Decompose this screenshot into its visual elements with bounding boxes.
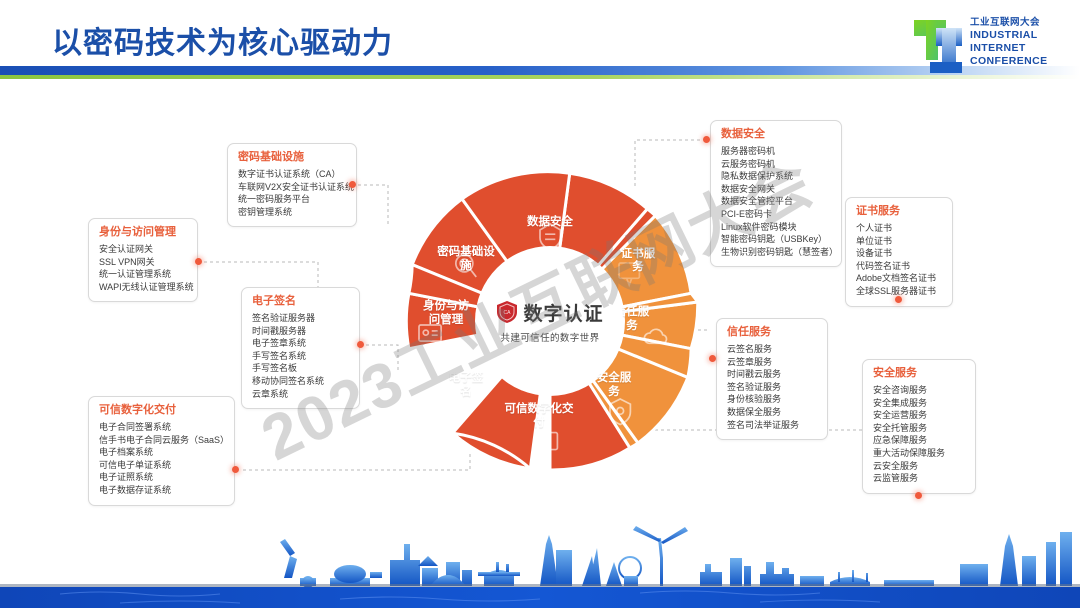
connector-dot	[895, 296, 902, 303]
info-box-item: 电子数据存证系统	[99, 484, 224, 497]
info-box-title: 身份与访问管理	[99, 226, 187, 239]
info-box-item: 服务器密码机	[721, 145, 831, 158]
info-box-item: 云签章服务	[727, 356, 817, 369]
info-box-item: 车联网V2X安全证书认证系统	[238, 181, 346, 194]
info-box-item: 数据安全管控平台	[721, 195, 831, 208]
info-box-item: 密钥管理系统	[238, 206, 346, 219]
info-box-item: 电子合同签署系统	[99, 421, 224, 434]
info-box-identity-access-management[interactable]: 身份与访问管理 安全认证网关 SSL VPN网关 统一认证管理系统 WAPI无线…	[88, 218, 198, 302]
wheel-center-brand: CA 数字认证 共建可信任的数字世界	[477, 248, 623, 394]
info-box-item: 隐私数据保护系统	[721, 170, 831, 183]
wheel-label-electronic-signature[interactable]: 电子签名	[446, 371, 486, 399]
info-box-item: 数据保全服务	[727, 406, 817, 419]
info-box-item: 单位证书	[856, 235, 942, 248]
wheel-label-security-service[interactable]: 安全服务	[594, 371, 634, 399]
info-box-item: 云服务密码机	[721, 158, 831, 171]
wheel-label-certificate-service[interactable]: 证书服务	[618, 248, 658, 274]
info-box-title: 密码基础设施	[238, 151, 346, 164]
info-box-item: 签名司法举证服务	[727, 419, 817, 432]
connector-dot	[232, 466, 239, 473]
info-box-item: 应急保障服务	[873, 434, 965, 447]
info-box-item: 手写签名系统	[252, 350, 349, 363]
info-box-item: 时间戳服务器	[252, 325, 349, 338]
skyline-silhouette	[280, 526, 1072, 587]
info-box-item: 数据安全网关	[721, 183, 831, 196]
info-box-item: 安全运营服务	[873, 409, 965, 422]
info-box-item: 代码签名证书	[856, 260, 942, 273]
info-box-item: 数字证书认证系统（CA）	[238, 168, 346, 181]
connector-dot	[349, 181, 356, 188]
info-box-electronic-signature[interactable]: 电子签名 签名验证服务器 时间戳服务器 电子签章系统 手写签名系统 手写签名板 …	[241, 287, 360, 409]
info-box-item: PCI-E密码卡	[721, 208, 831, 221]
info-box-title: 数据安全	[721, 128, 831, 141]
sea-band	[0, 587, 1080, 608]
info-box-item: 签名验证服务	[727, 381, 817, 394]
info-box-item: Linux软件密码模块	[721, 221, 831, 234]
connector-dot	[703, 136, 710, 143]
info-box-data-security[interactable]: 数据安全 服务器密码机 云服务密码机 隐私数据保护系统 数据安全网关 数据安全管…	[710, 120, 842, 267]
info-box-item: 云监管服务	[873, 472, 965, 485]
info-box-item: 身份核验服务	[727, 393, 817, 406]
city-skyline-decoration	[0, 498, 1080, 608]
info-box-item: 安全集成服务	[873, 397, 965, 410]
info-box-item: 电子证照系统	[99, 471, 224, 484]
info-box-trusted-digital-delivery[interactable]: 可信数字化交付 电子合同签署系统 信手书电子合同云服务（SaaS） 电子档案系统…	[88, 396, 235, 506]
info-box-item: 安全咨询服务	[873, 384, 965, 397]
brand-tagline: 共建可信任的数字世界	[500, 330, 599, 344]
connector-dot	[195, 258, 202, 265]
info-box-item: 个人证书	[856, 222, 942, 235]
info-box-item: 云签名服务	[727, 343, 817, 356]
info-box-item: Adobe文档签名证书	[856, 272, 942, 285]
info-box-item: 重大活动保障服务	[873, 447, 965, 460]
info-box-item: WAPI无线认证管理系统	[99, 281, 187, 294]
info-box-title: 信任服务	[727, 326, 817, 339]
info-box-trust-service[interactable]: 信任服务 云签名服务 云签章服务 时间戳云服务 签名验证服务 身份核验服务 数据…	[716, 318, 828, 440]
signature-icon	[445, 402, 464, 419]
wheel-label-crypto-infrastructure[interactable]: 密码基础设施	[434, 245, 498, 273]
info-box-security-service[interactable]: 安全服务 安全咨询服务 安全集成服务 安全运营服务 安全托管服务 应急保障服务 …	[862, 359, 976, 494]
info-box-item: 云章系统	[252, 388, 349, 401]
info-box-item: 手写签名板	[252, 362, 349, 375]
info-box-item: 电子档案系统	[99, 446, 224, 459]
info-box-item: SSL VPN网关	[99, 256, 187, 269]
info-box-title: 电子签名	[252, 295, 349, 308]
info-box-item: 可信电子单证系统	[99, 459, 224, 472]
info-box-item: 生物识别密码钥匙（慧签者）	[721, 246, 831, 259]
info-box-item: 安全托管服务	[873, 422, 965, 435]
info-box-title: 可信数字化交付	[99, 404, 224, 417]
info-box-crypto-infrastructure[interactable]: 密码基础设施 数字证书认证系统（CA） 车联网V2X安全证书认证系统 统一密码服…	[227, 143, 357, 227]
info-box-title: 安全服务	[873, 367, 965, 380]
info-box-item: 统一密码服务平台	[238, 193, 346, 206]
connector-dot	[709, 355, 716, 362]
brand-name: 数字认证	[523, 299, 603, 326]
wheel-label-data-security[interactable]: 数据安全	[523, 215, 577, 229]
wheel-label-identity-access-management[interactable]: 身份与访问管理	[420, 299, 472, 327]
info-box-item: 信手书电子合同云服务（SaaS）	[99, 434, 224, 447]
info-box-item: 签名验证服务器	[252, 312, 349, 325]
info-box-item: 移动协同签名系统	[252, 375, 349, 388]
info-box-title: 证书服务	[856, 205, 942, 218]
info-box-item: 统一认证管理系统	[99, 268, 187, 281]
connector-dot	[357, 341, 364, 348]
info-box-item: 智能密码钥匙（USBKey）	[721, 233, 831, 246]
wheel-label-trusted-digital-delivery[interactable]: 可信数字化交付	[501, 402, 577, 430]
info-box-certificate-service[interactable]: 证书服务 个人证书 单位证书 设备证书 代码签名证书 Adobe文档签名证书 全…	[845, 197, 953, 307]
brand-shield-icon: CA	[496, 300, 518, 324]
info-box-item: 时间戳云服务	[727, 368, 817, 381]
info-box-item: 电子签章系统	[252, 337, 349, 350]
info-box-item: 云安全服务	[873, 460, 965, 473]
info-box-item: 设备证书	[856, 247, 942, 260]
svg-text:CA: CA	[504, 310, 512, 316]
info-box-item: 安全认证网关	[99, 243, 187, 256]
